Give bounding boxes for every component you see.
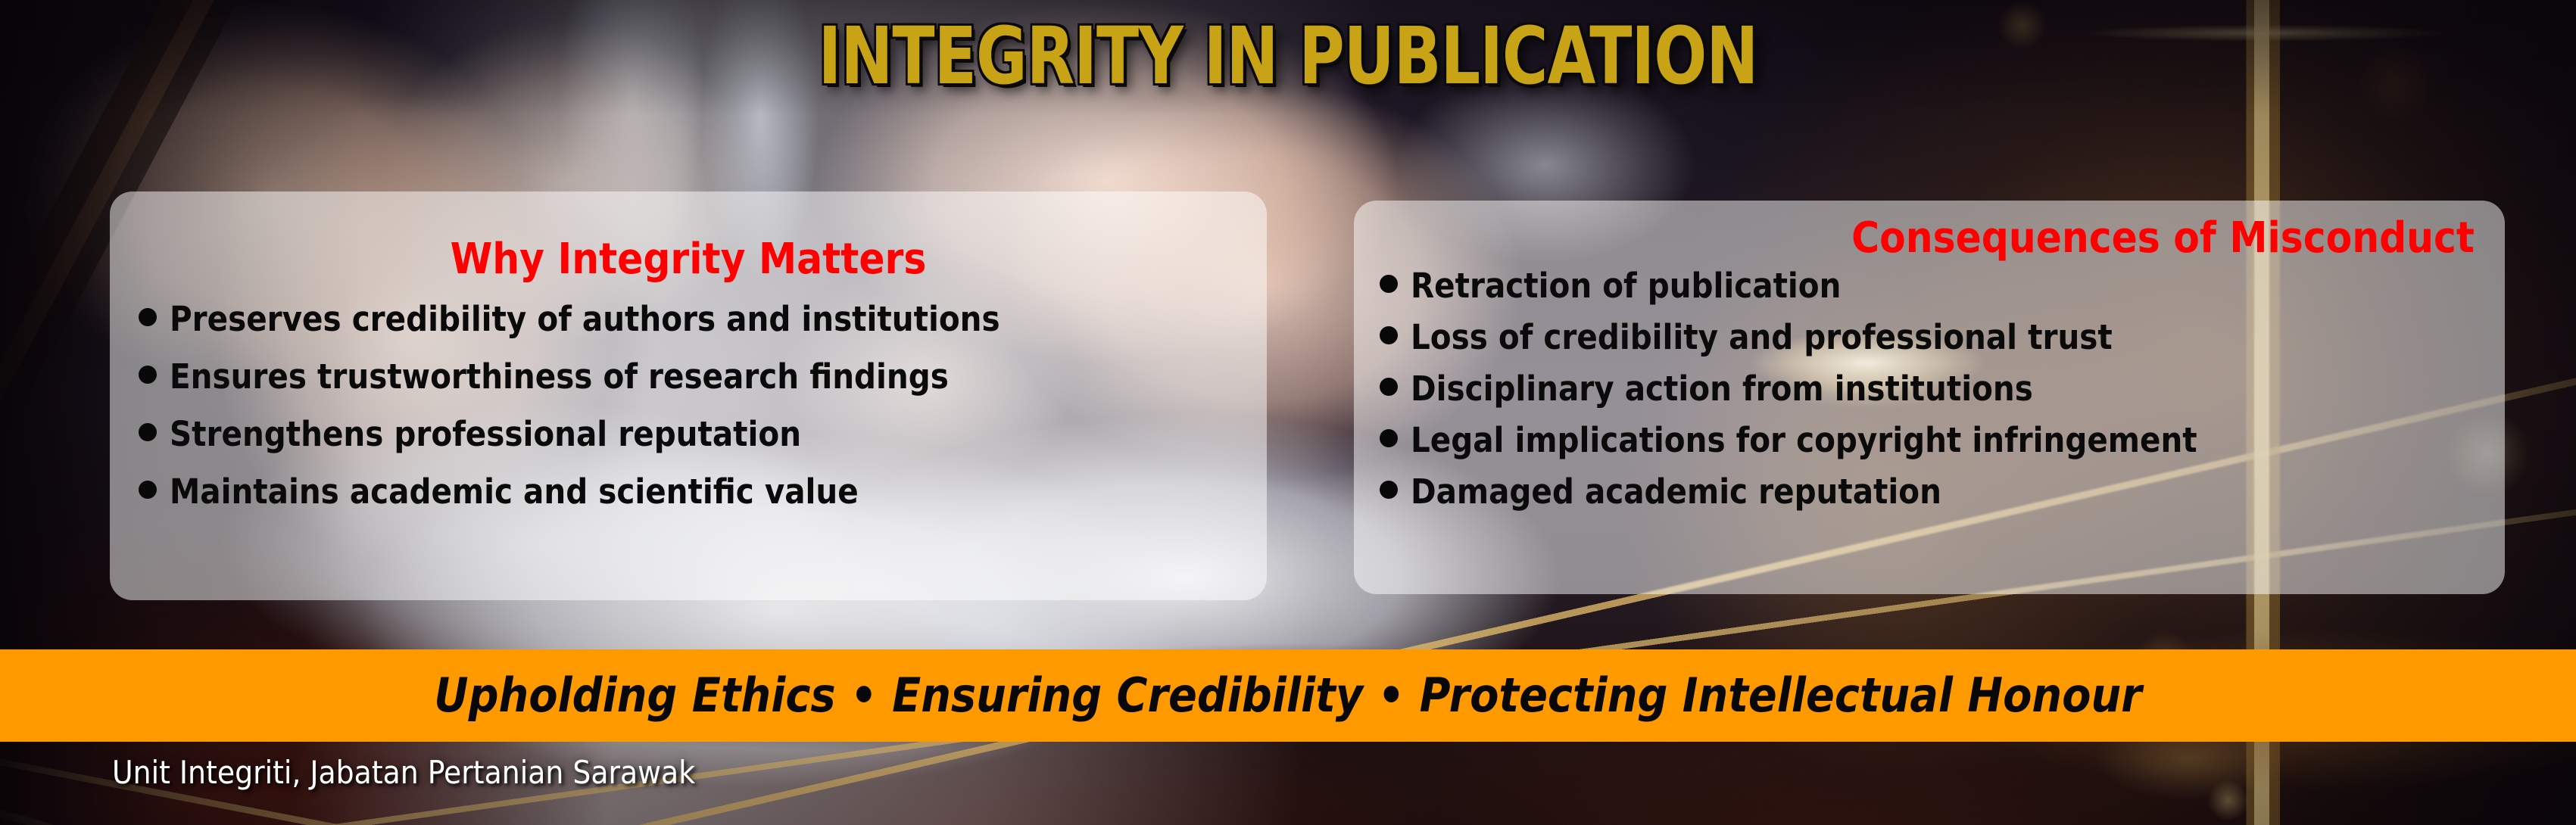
- list-item: Strengthens professional reputation: [139, 417, 1267, 451]
- list-item: Legal implications for copyright infring…: [1380, 423, 2505, 457]
- list-item: Disciplinary action from institutions: [1380, 372, 2505, 406]
- bullet-dot-icon: [139, 308, 157, 326]
- why-integrity-matters-list: Preserves credibility of authors and ins…: [110, 302, 1267, 509]
- integrity-banner: INTEGRITY IN PUBLICATION Why Integrity M…: [0, 0, 2576, 825]
- card-heading-why-integrity-matters: Why Integrity Matters: [110, 238, 1267, 281]
- list-item: Preserves credibility of authors and ins…: [139, 302, 1267, 336]
- footer-attribution: Unit Integriti, Jabatan Pertanian Sarawa…: [112, 757, 695, 789]
- tagline-text: Upholding Ethics • Ensuring Credibility …: [434, 672, 2141, 719]
- consequences-of-misconduct-card: Consequences of Misconduct Retraction of…: [1354, 201, 2505, 594]
- why-integrity-matters-card: Why Integrity Matters Preserves credibil…: [110, 191, 1267, 600]
- list-item-label: Strengthens professional reputation: [170, 417, 801, 451]
- list-item-label: Ensures trustworthiness of research find…: [170, 360, 949, 394]
- list-item: Ensures trustworthiness of research find…: [139, 360, 1267, 394]
- banner-title: INTEGRITY IN PUBLICATION: [154, 17, 2422, 95]
- bullet-dot-icon: [1380, 326, 1398, 344]
- bullet-dot-icon: [139, 366, 157, 384]
- bullet-dot-icon: [1380, 275, 1398, 293]
- list-item-label: Legal implications for copyright infring…: [1411, 423, 2197, 457]
- bullet-dot-icon: [139, 423, 157, 441]
- list-item: Maintains academic and scientific value: [139, 475, 1267, 509]
- bullet-dot-icon: [1380, 429, 1398, 447]
- list-item-label: Retraction of publication: [1411, 269, 1841, 303]
- list-item: Damaged academic reputation: [1380, 475, 2505, 509]
- consequences-of-misconduct-list: Retraction of publication Loss of credib…: [1354, 269, 2505, 509]
- list-item-label: Loss of credibility and professional tru…: [1411, 320, 2113, 354]
- list-item: Loss of credibility and professional tru…: [1380, 320, 2505, 354]
- tagline-bar: Upholding Ethics • Ensuring Credibility …: [0, 649, 2576, 742]
- list-item-label: Maintains academic and scientific value: [170, 475, 859, 509]
- list-item-label: Damaged academic reputation: [1411, 475, 1941, 509]
- bullet-dot-icon: [1380, 481, 1398, 499]
- list-item: Retraction of publication: [1380, 269, 2505, 303]
- list-item-label: Preserves credibility of authors and ins…: [170, 302, 1000, 336]
- card-heading-consequences-of-misconduct: Consequences of Misconduct: [1354, 217, 2505, 260]
- list-item-label: Disciplinary action from institutions: [1411, 372, 2033, 406]
- bullet-dot-icon: [139, 481, 157, 499]
- bullet-dot-icon: [1380, 378, 1398, 396]
